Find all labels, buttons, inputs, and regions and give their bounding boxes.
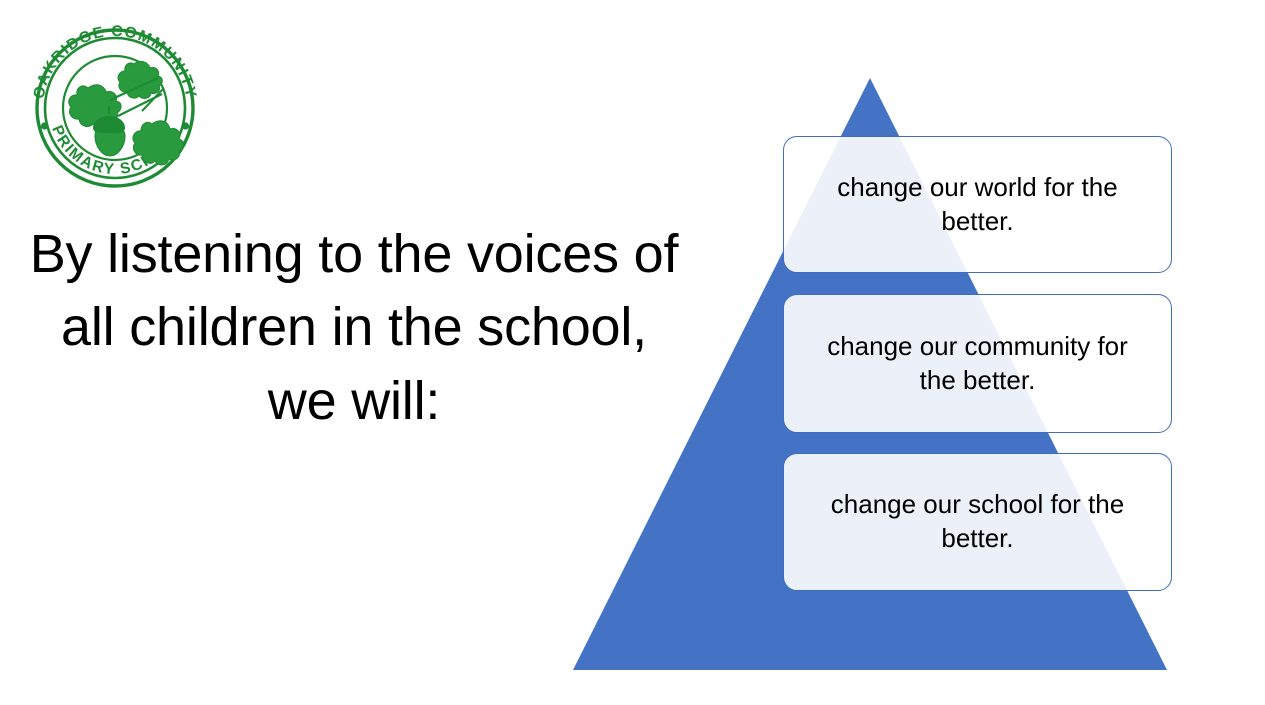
pyramid-tier-2-label: change our community for the better. <box>806 330 1149 398</box>
pyramid-diagram: change our world for the better. change … <box>560 60 1200 690</box>
school-logo: OAKRIDGE COMMUNITY PRIMARY SCHOOL <box>22 16 208 188</box>
pyramid-tier-3[interactable]: change our school for the better. <box>783 453 1172 591</box>
logo-dot-left <box>41 122 48 129</box>
pyramid-tier-1[interactable]: change our world for the better. <box>783 136 1172 273</box>
logo-svg: OAKRIDGE COMMUNITY PRIMARY SCHOOL <box>22 16 208 188</box>
logo-top-arc-text: OAKRIDGE COMMUNITY <box>30 23 199 100</box>
pyramid-tier-3-label: change our school for the better. <box>806 488 1149 556</box>
slide-canvas: OAKRIDGE COMMUNITY PRIMARY SCHOOL <box>0 0 1265 705</box>
pyramid-tier-1-label: change our world for the better. <box>806 171 1149 239</box>
logo-dot-right <box>182 122 189 129</box>
pyramid-tier-2[interactable]: change our community for the better. <box>783 294 1172 433</box>
